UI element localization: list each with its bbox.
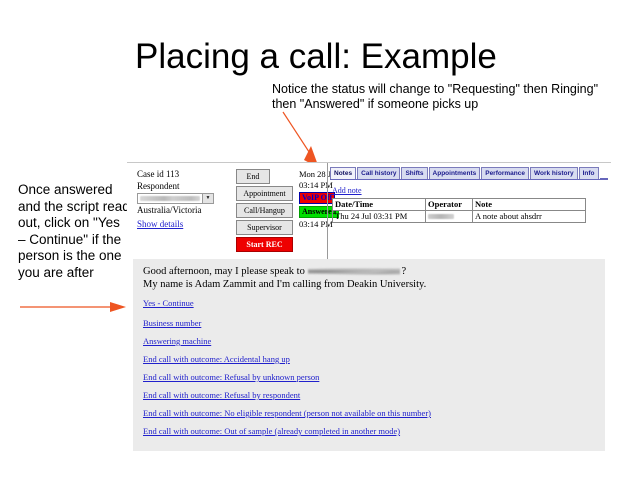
chevron-down-icon[interactable]: ▼ — [202, 194, 213, 203]
start-rec-button[interactable]: Start REC — [236, 237, 293, 252]
script-text: Good afternoon, may I please speak to ? … — [143, 265, 426, 291]
tab-shifts[interactable]: Shifts — [401, 167, 427, 179]
annotation-status-note: Notice the status will change to "Reques… — [272, 82, 602, 112]
column-header-note: Note — [473, 199, 586, 211]
call-hangup-button[interactable]: Call/Hangup — [236, 203, 293, 218]
respondent-value-redacted — [140, 196, 200, 201]
script-pane: Good afternoon, may I please speak to ? … — [133, 259, 605, 451]
respondent-name-redacted — [308, 268, 400, 275]
annotation-arrow-left — [18, 300, 130, 314]
tab-call-history[interactable]: Call history — [357, 167, 400, 179]
appointment-button[interactable]: Appointment — [236, 186, 293, 201]
column-header-operator: Operator — [426, 199, 473, 211]
tab-info[interactable]: Info — [579, 167, 599, 179]
supervisor-button[interactable]: Supervisor — [236, 220, 293, 235]
app-screenshot: Case id 113 Respondent ▼ Australia/Victo… — [127, 162, 611, 456]
end-button[interactable]: End — [236, 169, 270, 184]
option-no-eligible-respondent[interactable]: End call with outcome: No eligible respo… — [143, 408, 431, 418]
notes-table: Date/Time Operator Note Thu 24 Jul 03:31… — [332, 198, 586, 223]
script-greeting-before: Good afternoon, may I please speak to — [143, 266, 307, 277]
option-refusal-unknown-person[interactable]: End call with outcome: Refusal by unknow… — [143, 372, 431, 382]
tab-performance[interactable]: Performance — [481, 167, 529, 179]
option-yes-continue[interactable]: Yes - Continue — [143, 298, 431, 308]
tab-strip-filler — [600, 178, 608, 179]
respondent-select[interactable]: ▼ — [137, 193, 214, 204]
option-out-of-sample[interactable]: End call with outcome: Out of sample (al… — [143, 426, 431, 436]
cell-operator — [426, 211, 473, 223]
cell-datetime: Thu 24 Jul 03:31 PM — [333, 211, 426, 223]
option-business-number[interactable]: Business number — [143, 318, 431, 328]
script-greeting-after: ? — [401, 266, 406, 277]
column-header-datetime: Date/Time — [333, 199, 426, 211]
tab-appointments[interactable]: Appointments — [429, 167, 481, 179]
table-row[interactable]: Thu 24 Jul 03:31 PM A note about ahsdrr — [333, 211, 586, 223]
option-accidental-hang-up[interactable]: End call with outcome: Accidental hang u… — [143, 354, 431, 364]
option-answering-machine[interactable]: Answering machine — [143, 336, 431, 346]
script-intro-line: My name is Adam Zammit and I'm calling f… — [143, 278, 426, 291]
script-option-list: Yes - Continue Business number Answering… — [143, 298, 431, 444]
page-title: Placing a call: Example — [135, 36, 497, 78]
option-refusal-respondent[interactable]: End call with outcome: Refusal by respon… — [143, 390, 431, 400]
operator-value-redacted — [428, 214, 454, 219]
tab-strip: Notes Call history Shifts Appointments P… — [330, 167, 608, 180]
table-header-row: Date/Time Operator Note — [333, 199, 586, 211]
add-note-link[interactable]: Add note — [332, 186, 362, 195]
call-control-pane: Case id 113 Respondent ▼ Australia/Victo… — [127, 163, 611, 255]
script-greeting-line: Good afternoon, may I please speak to ? — [143, 265, 426, 278]
action-button-group: End Appointment Call/Hangup Supervisor S… — [236, 169, 293, 254]
tab-work-history[interactable]: Work history — [530, 167, 578, 179]
cell-note: A note about ahsdrr — [473, 211, 586, 223]
annotation-continue-note: Once answered and the script read out, c… — [18, 182, 130, 281]
tab-notes[interactable]: Notes — [330, 167, 356, 179]
tab-panel: Notes Call history Shifts Appointments P… — [330, 167, 608, 223]
show-details-link[interactable]: Show details — [137, 219, 183, 231]
